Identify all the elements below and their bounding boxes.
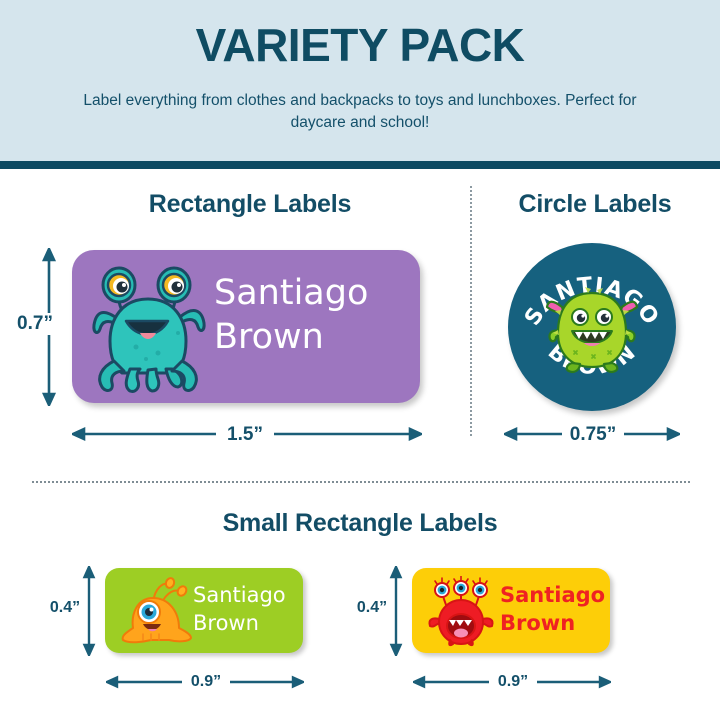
horizontal-dotted-divider xyxy=(32,481,690,483)
small-label-green-name: Santiago Brown xyxy=(193,581,303,638)
small-label-green-name-line2: Brown xyxy=(193,609,303,637)
small-label-yellow-name-line1: Santiago xyxy=(500,581,610,609)
small-label-yellow-name: Santiago Brown xyxy=(500,581,610,638)
small-rectangle-label-green: Santiago Brown xyxy=(105,568,303,653)
variety-pack-infographic: VARIETY PACK Label everything from cloth… xyxy=(0,0,720,720)
vertical-dotted-divider xyxy=(470,186,472,436)
small-label-green-name-line1: Santiago xyxy=(193,581,303,609)
section-title-circle: Circle Labels xyxy=(480,190,710,219)
circle-label-preview: SANTIAGO BROWN xyxy=(508,243,676,411)
section-title-rectangle: Rectangle Labels xyxy=(30,190,470,219)
octopus-monster-icon xyxy=(88,263,208,393)
rectangle-label-preview: Santiago Brown xyxy=(72,250,420,403)
header-divider-bar xyxy=(0,161,720,169)
rectangle-width-dimension: 1.5” xyxy=(216,424,274,446)
yellow-label-height-dimension: 0.4” xyxy=(351,599,393,617)
green-label-height-dimension: 0.4” xyxy=(44,599,86,617)
rectangle-height-dimension: 0.7” xyxy=(12,313,58,335)
orange-slug-monster-icon xyxy=(117,576,195,648)
page-title: VARIETY PACK xyxy=(0,22,720,68)
rectangle-label-name: Santiago Brown xyxy=(214,272,414,360)
section-title-small-rectangle: Small Rectangle Labels xyxy=(0,509,720,538)
rectangle-label-name-line1: Santiago xyxy=(214,272,414,316)
furry-green-monster-icon xyxy=(542,285,642,375)
header-subtitle: Label everything from clothes and backpa… xyxy=(60,90,660,135)
green-label-width-dimension: 0.9” xyxy=(182,673,230,691)
rectangle-label-name-line2: Brown xyxy=(214,316,414,360)
header-banner: VARIETY PACK Label everything from cloth… xyxy=(0,0,720,161)
red-three-eyed-monster-icon xyxy=(422,576,500,648)
yellow-label-width-dimension: 0.9” xyxy=(489,673,537,691)
small-label-yellow-name-line2: Brown xyxy=(500,609,610,637)
small-rectangle-label-yellow: Santiago Brown xyxy=(412,568,610,653)
circle-width-dimension: 0.75” xyxy=(562,424,624,446)
